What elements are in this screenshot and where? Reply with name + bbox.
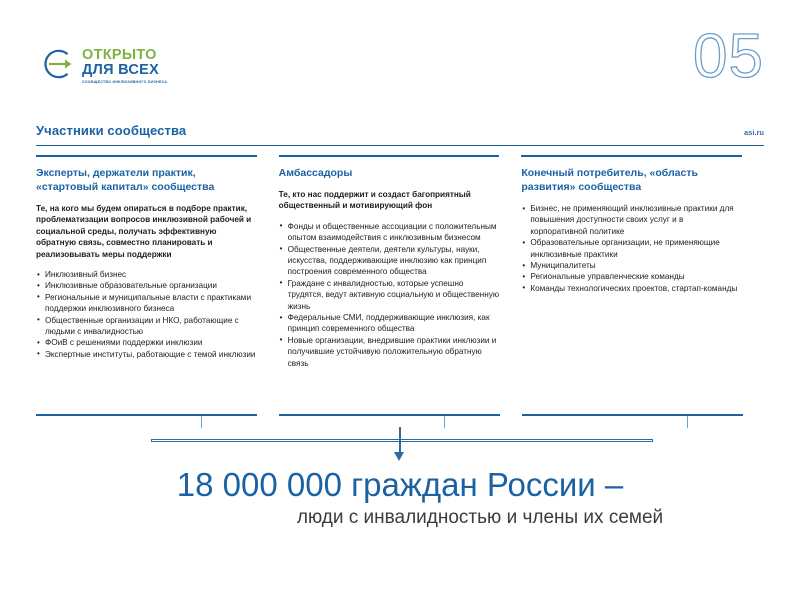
page-title: Участники сообщества [36, 123, 186, 138]
site-label: asi.ru [744, 128, 764, 137]
column-top-rule [279, 155, 500, 157]
list-item: Образовательные организации, не применяю… [521, 237, 742, 260]
list-item: Общественные организации и НКО, работающ… [36, 315, 257, 338]
slide: ОТКРЫТО ДЛЯ ВСЕХ СООБЩЕСТВО ИНКЛЮЗИВНОГО… [0, 0, 800, 600]
list-item: Бизнес, не применяющий инклюзивные практ… [521, 203, 742, 237]
list-item: Новые организации, внедрившие практики и… [279, 335, 500, 369]
logo-subtitle: СООБЩЕСТВО ИНКЛЮЗИВНОГО БИЗНЕСА [82, 80, 167, 85]
logo-text: ОТКРЫТО ДЛЯ ВСЕХ СООБЩЕСТВО ИНКЛЮЗИВНОГО… [82, 46, 167, 84]
list-item: Граждане с инвалидностью, которые успешн… [279, 278, 500, 312]
column-top-rule [36, 155, 257, 157]
column-bullet-list: Фонды и общественные ассоциации с положи… [279, 221, 500, 369]
list-item: Региональные управленческие команды [521, 271, 742, 282]
column-heading: Эксперты, держатели практик, «стартовый … [36, 166, 257, 194]
list-item: ФОиВ с решениями поддержки инклюзии [36, 337, 257, 348]
slide-number: 05 [693, 26, 764, 88]
column-bullet-list: Инклюзивный бизнес Инклюзивные образоват… [36, 269, 257, 360]
column-bottom-rules [36, 414, 764, 428]
list-item: Региональные и муниципальные власти с пр… [36, 292, 257, 315]
list-item: Федеральные СМИ, поддерживающие инклюзия… [279, 312, 500, 335]
column-intro: Те, кто нас поддержит и создаст багоприя… [279, 189, 500, 212]
list-item: Экспертные институты, работающие с темой… [36, 349, 257, 360]
column-bottom-rule [279, 414, 500, 416]
logo-line-1: ОТКРЫТО [82, 48, 167, 63]
list-item: Общественные деятели, деятели культуры, … [279, 244, 500, 278]
summary-bracket-fill [151, 428, 653, 440]
column-experts: Эксперты, держатели практик, «стартовый … [36, 155, 279, 369]
column-bullet-list: Бизнес, не применяющий инклюзивные практ… [521, 203, 742, 294]
list-item: Муниципалитеты [521, 260, 742, 271]
down-arrow-head-icon [394, 452, 404, 461]
footer-subline: люди с инвалидностью и члены их семей [0, 506, 800, 530]
list-item: Фонды и общественные ассоциации с положи… [279, 221, 500, 244]
column-connector-tick [444, 416, 445, 428]
column-top-rule [521, 155, 742, 157]
column-connector-tick [201, 416, 202, 428]
column-end-consumer: Конечный потребитель, «область развития»… [521, 155, 764, 369]
column-ambassadors: Амбассадоры Те, кто нас поддержит и созд… [279, 155, 522, 369]
logo: ОТКРЫТО ДЛЯ ВСЕХ СООБЩЕСТВО ИНКЛЮЗИВНОГО… [40, 46, 167, 84]
list-item: Команды технологических проектов, старта… [521, 283, 742, 294]
list-item: Инклюзивный бизнес [36, 269, 257, 280]
column-connector-tick [687, 416, 688, 428]
footer-headline: 18 000 000 граждан России – [0, 466, 800, 504]
header-divider [36, 145, 764, 146]
column-bottom-rule [522, 414, 743, 416]
column-heading: Конечный потребитель, «область развития»… [521, 166, 742, 194]
down-arrow-icon [399, 427, 401, 455]
columns-container: Эксперты, держатели практик, «стартовый … [36, 155, 764, 369]
logo-line-2: ДЛЯ ВСЕХ [82, 63, 167, 78]
list-item: Инклюзивные образовательные организации [36, 280, 257, 291]
column-bottom-rule [36, 414, 257, 416]
circle-arrow-icon [40, 46, 76, 82]
column-heading: Амбассадоры [279, 166, 500, 180]
column-intro: Те, на кого мы будем опираться в подборе… [36, 203, 257, 260]
